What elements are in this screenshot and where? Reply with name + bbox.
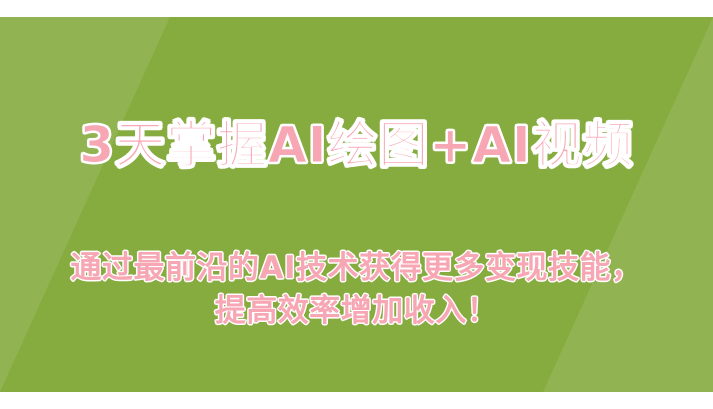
poster-image: 3天掌握AI绘图+AI视频 通过最前沿的AI技术获得更多变现技能， 提高效率增加… <box>0 0 713 409</box>
green-poster-panel: 3天掌握AI绘图+AI视频 通过最前沿的AI技术获得更多变现技能， 提高效率增加… <box>0 17 713 392</box>
bottom-white-bar <box>0 392 713 409</box>
poster-headline: 3天掌握AI绘图+AI视频 <box>0 105 713 177</box>
corner-wedge-bottom-right <box>543 17 713 392</box>
corner-wedge-top-left <box>0 17 170 392</box>
top-white-bar <box>0 0 713 17</box>
poster-subtitle-line-1: 通过最前沿的AI技术获得更多变现技能， <box>0 242 713 287</box>
poster-subtitle-line-2: 提高效率增加收入！ <box>0 285 713 330</box>
